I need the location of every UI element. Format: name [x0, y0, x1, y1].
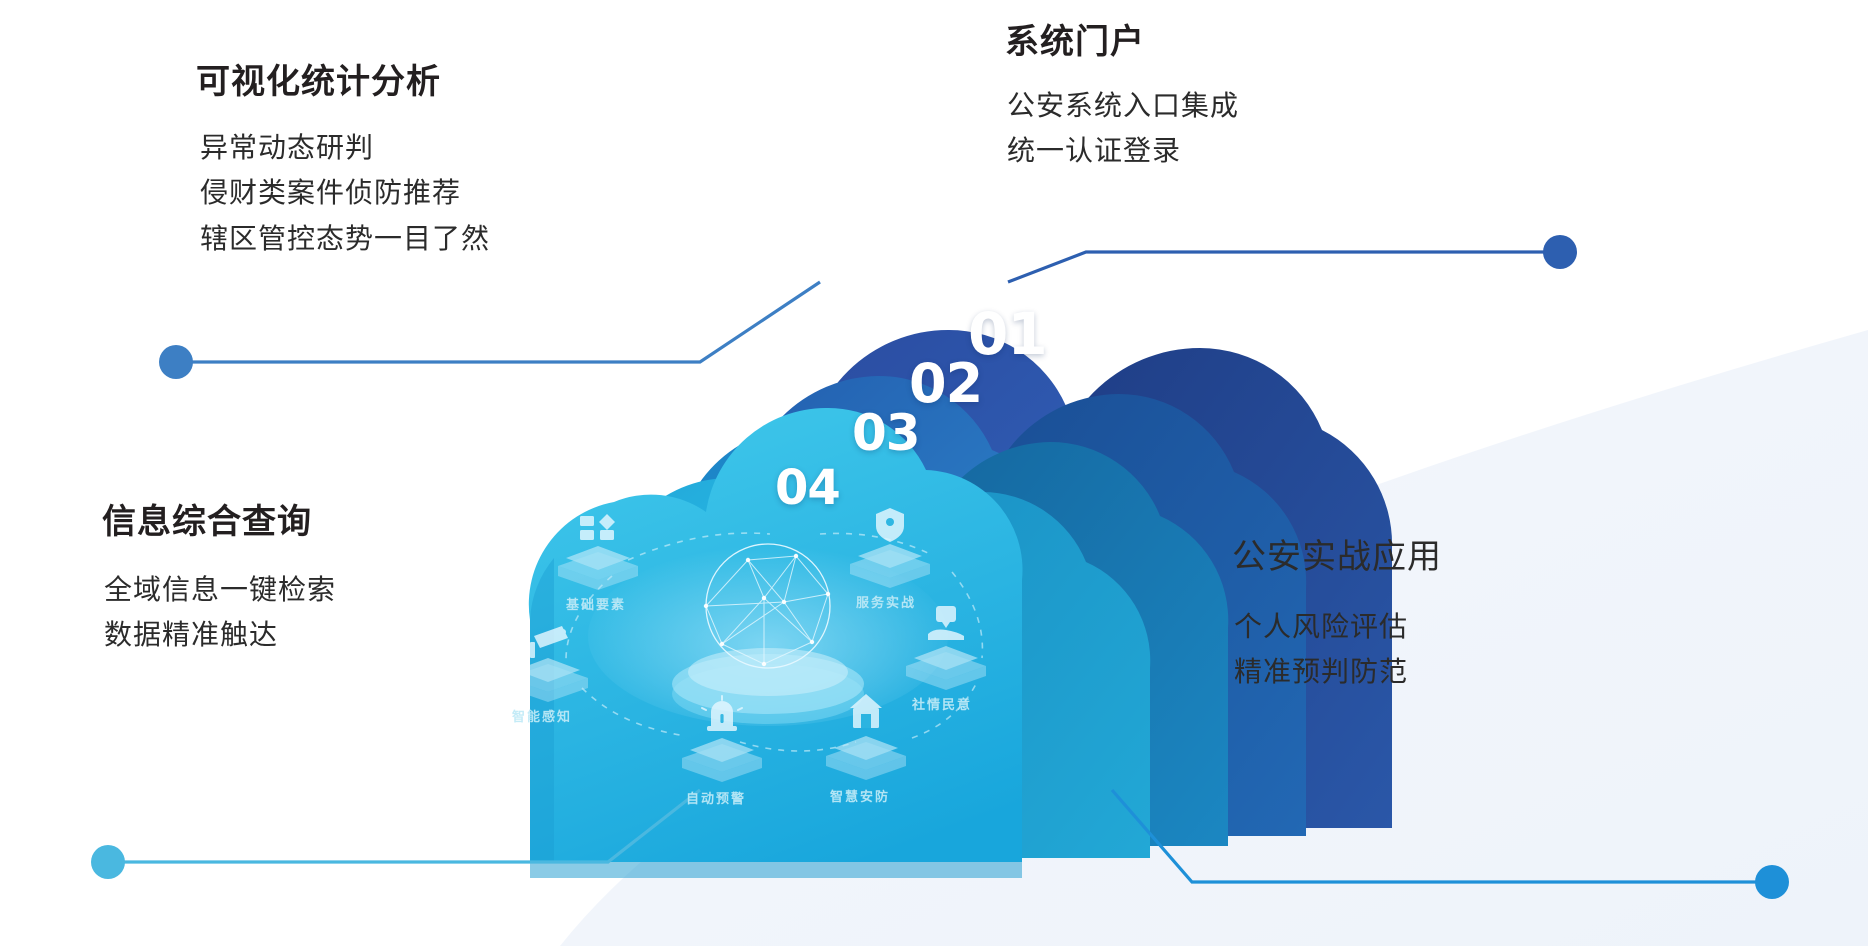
node-label-1: 基础要素 — [566, 594, 626, 613]
cloud-number-04: 04 — [775, 460, 840, 516]
callout-query-title: 信息综合查询 — [102, 502, 336, 543]
callout-query-body: 全域信息一键检索 数据精准触达 — [102, 567, 336, 658]
node-label-4: 智慧安防 — [830, 786, 890, 805]
connector-practice — [1112, 790, 1789, 899]
callout-practice-title: 公安实战应用 — [1232, 537, 1442, 578]
callout-practice-body: 个人风险评估 精准预判防范 — [1232, 604, 1442, 695]
callout-portal-line-2: 统一认证登录 — [1007, 128, 1239, 173]
connector-portal — [1008, 235, 1577, 282]
callout-query: 信息综合查询 全域信息一键检索 数据精准触达 — [102, 502, 336, 658]
callout-practice-line-1: 个人风险评估 — [1234, 604, 1442, 649]
callout-portal-title: 系统门户 — [1005, 22, 1239, 63]
node-label-5: 社情民意 — [912, 694, 972, 713]
connector-dot-portal — [1543, 235, 1577, 269]
callout-visualization-line-1: 异常动态研判 — [200, 125, 490, 170]
callout-visualization-body: 异常动态研判 侵财类案件侦防推荐 辖区管控态势一目了然 — [196, 125, 490, 261]
node-label-6: 服务实战 — [856, 592, 916, 611]
callout-visualization-line-3: 辖区管控态势一目了然 — [200, 216, 490, 261]
callout-query-line-2: 数据精准触达 — [104, 612, 336, 657]
node-label-3: 自动预警 — [686, 788, 746, 807]
callout-practice: 公安实战应用 个人风险评估 精准预判防范 — [1232, 537, 1442, 695]
cloud-number-03: 03 — [852, 404, 920, 462]
callout-portal: 系统门户 公安系统入口集成 统一认证登录 — [1005, 22, 1239, 174]
callout-practice-line-2: 精准预判防范 — [1234, 649, 1442, 694]
connector-dot-query — [91, 845, 125, 879]
connector-query — [91, 790, 700, 879]
connector-dot-practice — [1755, 865, 1789, 899]
callout-portal-body: 公安系统入口集成 统一认证登录 — [1005, 83, 1239, 174]
callout-visualization: 可视化统计分析 异常动态研判 侵财类案件侦防推荐 辖区管控态势一目了然 — [196, 62, 490, 261]
connector-visualization — [159, 282, 820, 379]
callout-query-line-1: 全域信息一键检索 — [104, 567, 336, 612]
infographic-canvas: 基础要素 智能感知 自动预警 智慧安防 社情民意 服务实战 01 02 03 0… — [0, 0, 1868, 946]
callout-portal-line-1: 公安系统入口集成 — [1007, 83, 1239, 128]
node-label-2: 智能感知 — [512, 706, 572, 725]
callout-visualization-title: 可视化统计分析 — [196, 62, 490, 103]
connector-dot-visualization — [159, 345, 193, 379]
callout-visualization-line-2: 侵财类案件侦防推荐 — [200, 170, 490, 215]
